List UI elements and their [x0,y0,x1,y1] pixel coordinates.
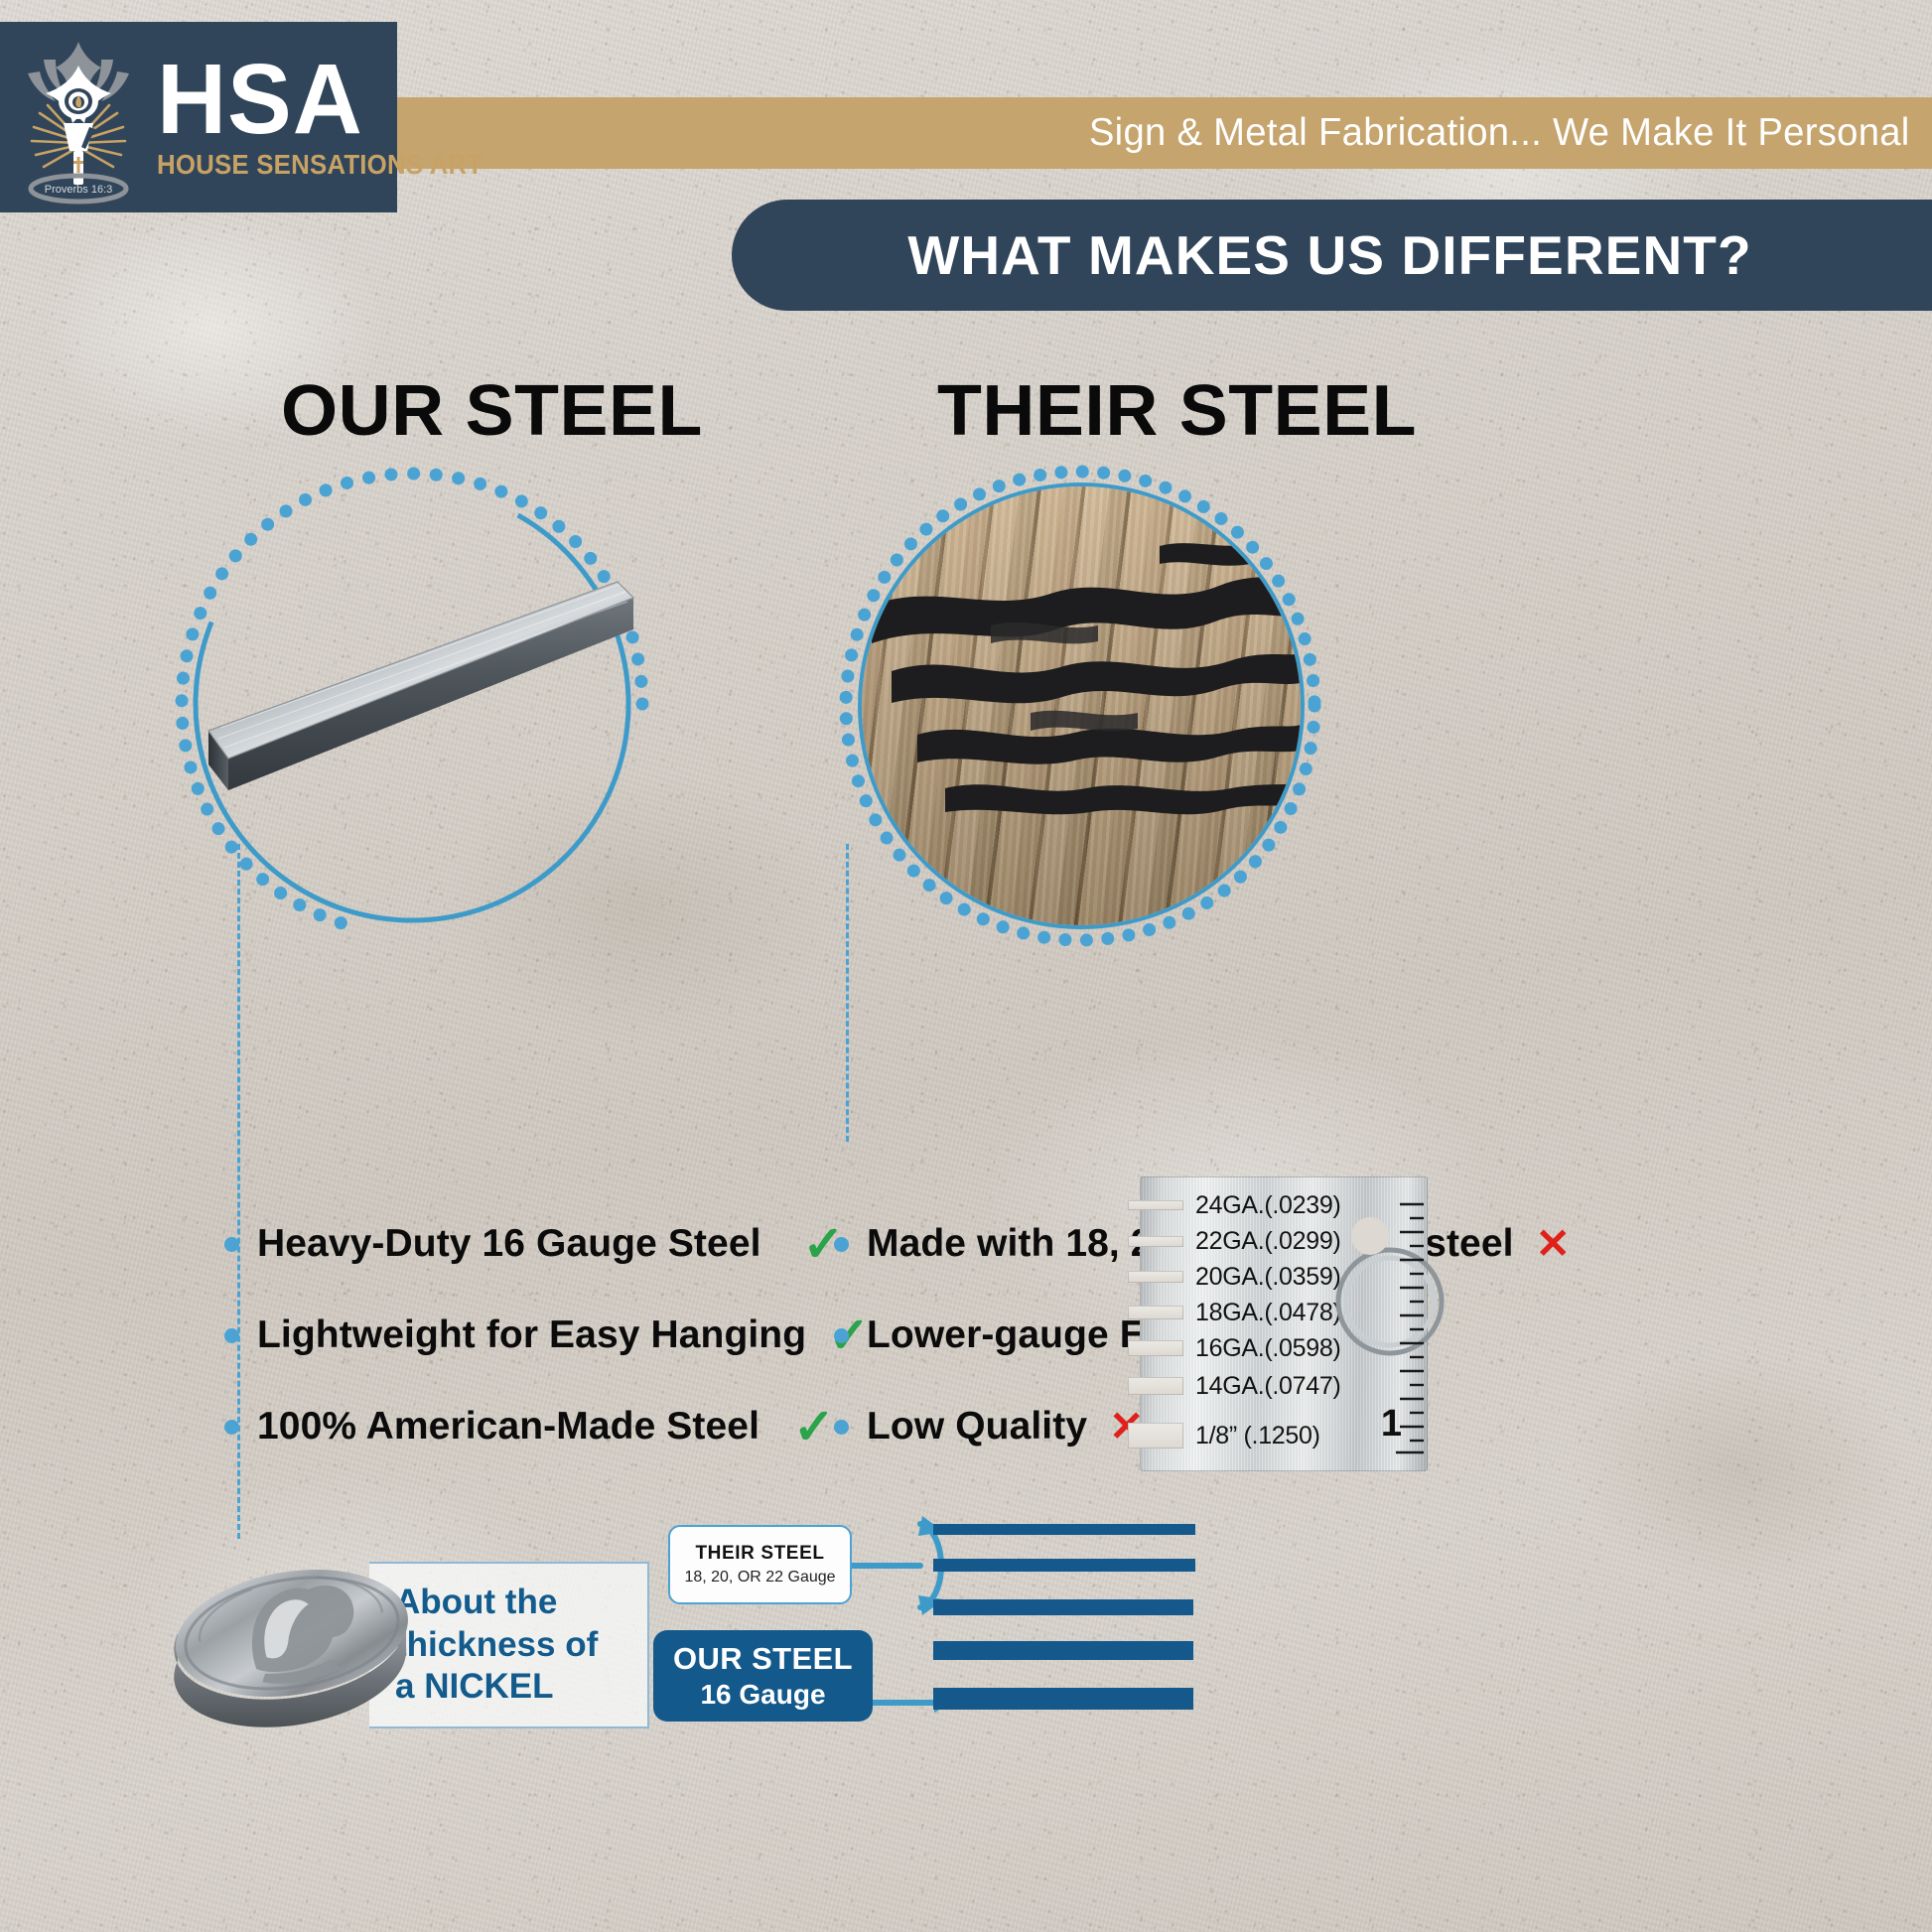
list-item-label: 100% American-Made Steel [257,1405,759,1449]
gauge-label-20: 20GA.(.0359) [1195,1263,1341,1292]
gauge-bar-16 [933,1688,1193,1710]
their-steel-heading: THEIR STEEL [937,370,1417,452]
gauge-notch-eighth [1128,1423,1183,1449]
tagline-bar: Sign & Metal Fabrication... We Make It P… [397,97,1932,169]
gauge-bar-24 [933,1524,1195,1535]
bullet-dot-icon [224,1328,239,1343]
logo-initials: HSA [157,54,493,145]
their-steel-dashed-connector [846,844,849,1142]
main-title-banner: WHAT MAKES US DIFFERENT? [732,200,1932,311]
page-title: WHAT MAKES US DIFFERENT? [907,223,1751,287]
gauge-notch-16 [1128,1340,1183,1356]
our-chip-subtitle: 16 Gauge [700,1679,825,1711]
our-steel-gauge-chip: OUR STEEL 16 Gauge [653,1630,873,1722]
list-item: Lightweight for Easy Hanging ✓ [224,1305,870,1366]
gauge-bar-20 [933,1599,1193,1615]
bullet-dot-icon [834,1328,849,1343]
gauge-bar-22 [933,1559,1195,1572]
tagline-text: Sign & Metal Fabrication... We Make It P… [1089,111,1910,155]
gauge-label-22: 22GA.(.0299) [1195,1227,1341,1256]
bullet-dot-icon [224,1237,239,1252]
their-chip-title: THEIR STEEL [695,1543,824,1565]
steel-flat-bar-image [169,544,635,827]
gauge-label-18: 18GA.(.0478) [1195,1299,1341,1327]
gauge-notch-24 [1128,1200,1183,1210]
gauge-notch-14 [1128,1377,1183,1395]
cross-icon: ✕ [1536,1223,1571,1265]
list-item-label: Heavy-Duty 16 Gauge Steel [257,1222,761,1266]
gauge-label-14: 14GA.(.0747) [1195,1372,1341,1401]
bent-thin-metal-art-silhouette [862,486,1301,925]
nickel-line-3: a NICKEL [395,1666,598,1709]
logo-verse-text: Proverbs 16:3 [45,184,112,196]
logo-wordmark: HSA HOUSE SENSATIONS ART [157,54,503,181]
check-icon: ✓ [793,1402,835,1451]
nickel-coin-image [164,1542,420,1746]
our-steel-feature-list: Heavy-Duty 16 Gauge Steel ✓ Lightweight … [224,1213,870,1487]
ruler-split-ring-icon [1328,1210,1446,1385]
brand-logo[interactable]: Proverbs 16:3 HSA HOUSE SENSATIONS ART [0,22,397,212]
our-steel-heading: OUR STEEL [281,370,703,452]
list-item-label: Lightweight for Easy Hanging [257,1313,806,1357]
list-item: 100% American-Made Steel ✓ [224,1396,870,1457]
their-chip-subtitle: 18, 20, OR 22 Gauge [684,1569,835,1587]
their-steel-photo [862,486,1301,925]
hsa-torch-logo-icon: Proverbs 16:3 [4,30,153,205]
list-item-label: Low Quality [867,1405,1087,1449]
our-chip-title: OUR STEEL [673,1641,853,1677]
their-steel-gauge-chip: THEIR STEEL 18, 20, OR 22 Gauge [668,1525,852,1604]
ruler-inch-number: 1 [1381,1403,1402,1446]
list-item: Heavy-Duty 16 Gauge Steel ✓ [224,1213,870,1275]
gauge-label-eighth: 1/8” (.1250) [1195,1422,1320,1450]
logo-company-name: HOUSE SENSATIONS ART [157,149,483,181]
nickel-line-2: thickness of [395,1624,598,1667]
gauge-label-16: 16GA.(.0598) [1195,1334,1341,1363]
gauge-notch-18 [1128,1306,1183,1319]
steel-gauge-ruler: 24GA.(.0239) 22GA.(.0299) 20GA.(.0359) 1… [1140,1176,1428,1471]
bullet-dot-icon [834,1420,849,1435]
gauge-notch-20 [1128,1271,1183,1283]
gauge-bar-18 [933,1641,1193,1660]
gauge-label-24: 24GA.(.0239) [1195,1191,1341,1220]
nickel-line-1: About the [395,1582,598,1624]
bullet-dot-icon [834,1237,849,1252]
gauge-notch-22 [1128,1236,1183,1247]
bullet-dot-icon [224,1420,239,1435]
